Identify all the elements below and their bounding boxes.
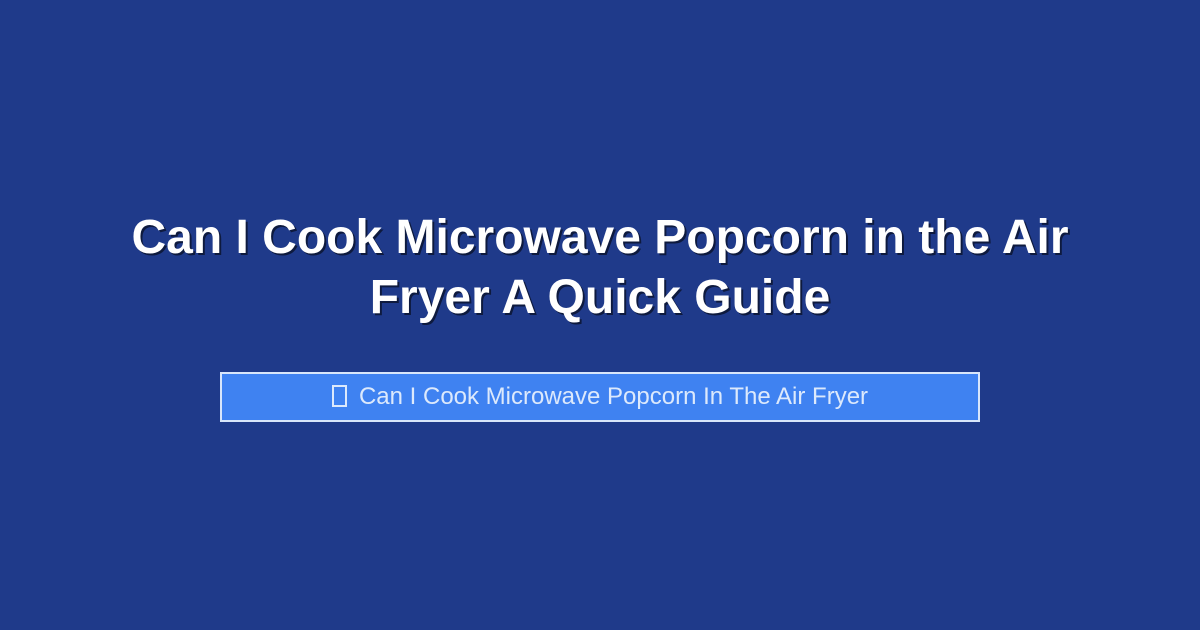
cta-button-label: Can I Cook Microwave Popcorn In The Air … bbox=[359, 385, 868, 409]
missing-glyph-box-icon bbox=[332, 385, 347, 407]
social-share-card: Can I Cook Microwave Popcorn in the Air … bbox=[0, 0, 1200, 630]
page-title: Can I Cook Microwave Popcorn in the Air … bbox=[70, 208, 1130, 328]
card-content: Can I Cook Microwave Popcorn in the Air … bbox=[0, 0, 1200, 630]
cta-container: Can I Cook Microwave Popcorn In The Air … bbox=[0, 372, 1200, 422]
cta-button[interactable]: Can I Cook Microwave Popcorn In The Air … bbox=[220, 372, 980, 422]
